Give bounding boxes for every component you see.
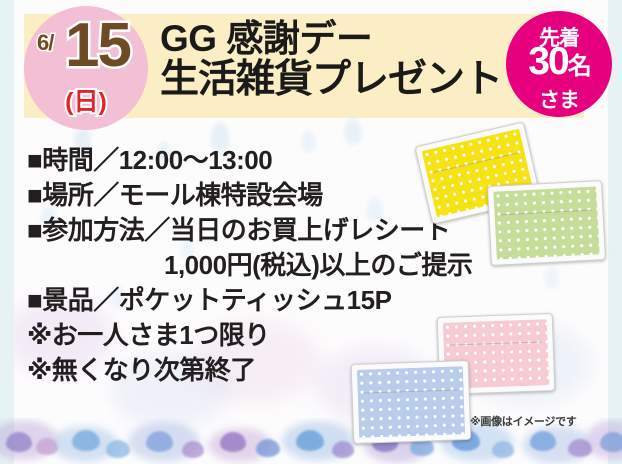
petal-decoration [600, 432, 622, 452]
pack-seam [433, 152, 519, 173]
date-day: 15 [65, 15, 130, 77]
flyer-poster: 6/ 15 (日) GG 感謝デー 生活雑貨プレゼント 先着 30名 さま ■時… [0, 0, 622, 464]
petal-decoration [568, 439, 592, 457]
date-day-of-week: (日) [53, 82, 119, 118]
first-come-badge: 先着 30名 さま [506, 11, 612, 117]
petal-decoration [492, 441, 514, 458]
title-line-1: GG 感謝デー [160, 20, 502, 58]
petal-decoration [296, 430, 324, 451]
pack-inner [357, 366, 465, 438]
petal-decoration [106, 440, 130, 458]
petal-decoration [72, 430, 100, 451]
pack-seam [364, 389, 457, 393]
petal-decoration [146, 431, 173, 452]
petal-decoration [332, 441, 354, 458]
petal-decoration [182, 441, 204, 458]
badge-unit: 名 [568, 53, 590, 80]
tissue-pack-blue [351, 360, 472, 444]
petal-decoration [36, 438, 58, 455]
detail-line-prize: ■景品／ポケットティッシュ15P [27, 283, 472, 318]
petal-decoration [256, 439, 280, 457]
petal-decoration [220, 432, 246, 452]
detail-line-amount: 1,000円(税込)以上のご提示 [27, 248, 472, 283]
title-line-2: 生活雑貨プレゼント [160, 60, 502, 101]
pack-seam [501, 210, 592, 216]
detail-line-how-to-join: ■参加方法／当日のお買上げレシート [27, 213, 472, 248]
droplet-decoration [544, 266, 559, 289]
badge-count-row: 30名 [506, 42, 612, 81]
page-title: GG 感謝デー 生活雑貨プレゼント [160, 20, 502, 101]
badge-label-bottom: さま [506, 84, 612, 114]
badge-count: 30 [528, 40, 567, 83]
detail-line-limit: ※お一人さま1つ限り [27, 318, 472, 353]
date-circle: 6/ 15 (日) [24, 6, 148, 130]
petal-decoration [6, 432, 32, 452]
petal-decoration [530, 431, 556, 451]
pack-seam [450, 342, 542, 346]
pack-inner [493, 186, 599, 259]
detail-line-place: ■場所／モール棟特設会場 [27, 178, 472, 213]
details-list: ■時間／12:00〜13:00 ■場所／モール棟特設会場 ■参加方法／当日のお買… [27, 143, 472, 388]
image-disclaimer: ※画像はイメージです [470, 413, 576, 429]
date-month: 6/ [37, 30, 53, 56]
detail-line-time: ■時間／12:00〜13:00 [27, 143, 472, 178]
droplet-decoration [344, 118, 362, 145]
tissue-pack-green [487, 180, 606, 266]
